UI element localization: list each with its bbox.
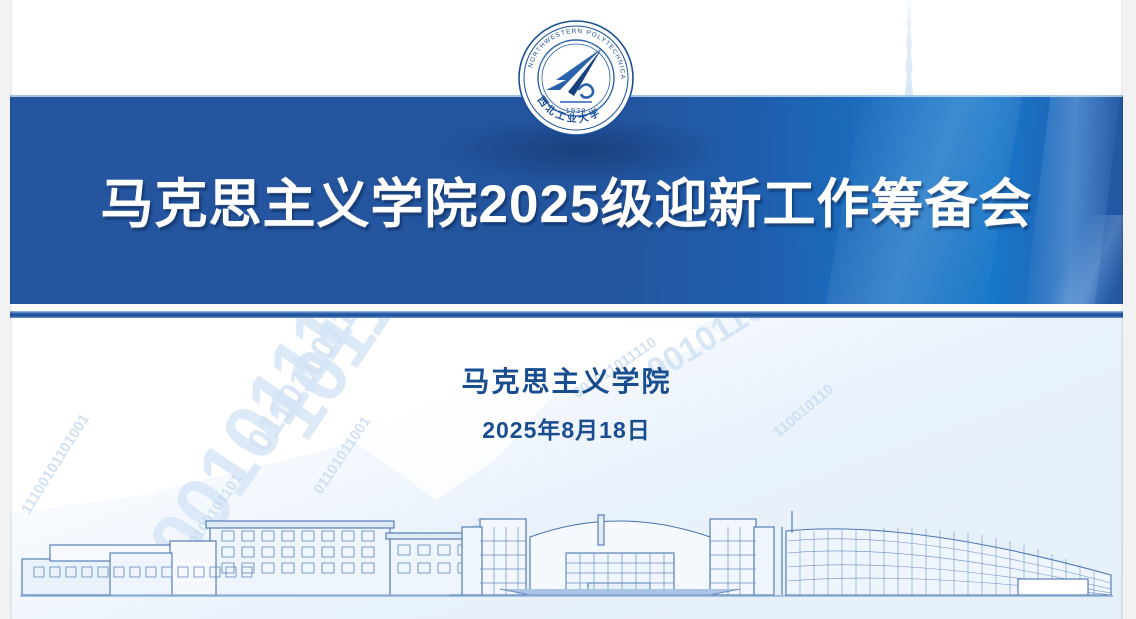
left-margin	[0, 0, 10, 619]
slide-edge-left	[10, 0, 12, 619]
band-gap	[10, 304, 1123, 311]
date-text: 2025年8月18日	[10, 411, 1123, 445]
page-title: 马克思主义学院2025级迎新工作筹备会	[10, 162, 1123, 238]
lower-area: 1110010110100100101110000110100110010101…	[10, 318, 1123, 619]
teaching-building-left	[22, 521, 514, 595]
university-logo: NORTHWESTERN POLYTECHNICAL UNIVERSITY 西北…	[516, 18, 636, 138]
right-margin	[1123, 0, 1136, 619]
presentation-slide: 马克思主义学院2025级迎新工作筹备会 11100101101001001011…	[10, 0, 1123, 619]
tower-watermark-icon	[900, 0, 918, 96]
glass-hall-right	[782, 511, 1111, 595]
slide-screen: 马克思主义学院2025级迎新工作筹备会 11100101101001001011…	[0, 0, 1136, 619]
slide-edge-right	[1121, 0, 1123, 619]
accent-stripe	[10, 311, 1123, 318]
svg-text:1938: 1938	[566, 106, 587, 115]
library-center	[462, 515, 774, 595]
campus-skyline-illustration	[10, 497, 1123, 607]
subtitle-block: 马克思主义学院 2025年8月18日	[10, 360, 1123, 445]
subtitle: 马克思主义学院	[10, 360, 1123, 400]
